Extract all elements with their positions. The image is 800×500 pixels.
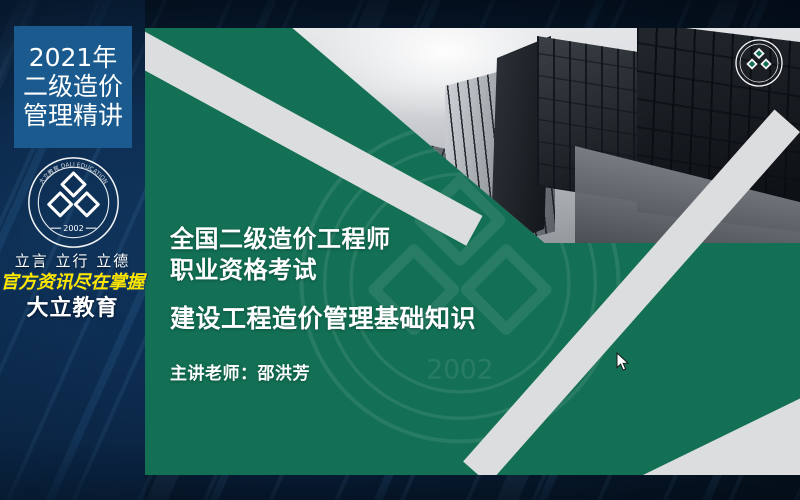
brand-seal-icon: 2002 大立教育 DALI EDUCATION (26, 155, 121, 250)
banner-line-type: 管理精讲 (23, 102, 123, 130)
course-sidebar: 2021年 二级造价 管理精讲 2002 (0, 0, 145, 500)
course-banner: 2021年 二级造价 管理精讲 (14, 26, 132, 148)
skyline-photo (145, 28, 800, 243)
title-line-3: 建设工程造价管理基础知识 (170, 303, 476, 335)
banner-line-year: 2021年 (29, 44, 118, 72)
title-line-1: 全国二级造价工程师 (170, 224, 476, 255)
sidebar-brand-name: 大立教育 (0, 290, 145, 322)
banner-line-level: 二级造价 (23, 73, 123, 101)
panel-corner-logo-icon (734, 38, 784, 88)
slide-stage: 2021年 二级造价 管理精讲 2002 (0, 0, 800, 500)
title-line-2: 职业资格考试 (170, 255, 476, 286)
mouse-cursor-icon (616, 352, 630, 372)
title-block: 全国二级造价工程师 职业资格考试 建设工程造价管理基础知识 主讲老师：邵洪芳 (170, 224, 476, 385)
corner-wedge-bottom-right (641, 398, 800, 475)
presenter-line: 主讲老师：邵洪芳 (170, 363, 476, 385)
seal-year: 2002 (63, 224, 84, 233)
slide-panel: 2002 (145, 28, 800, 475)
